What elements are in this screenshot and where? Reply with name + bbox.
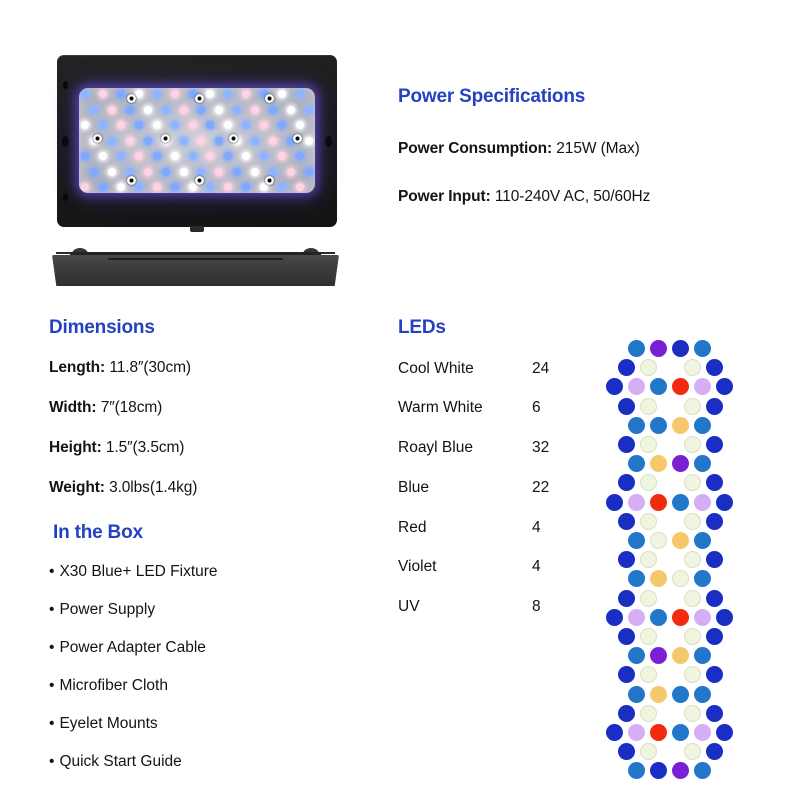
led-row-label-red: Red — [398, 519, 426, 537]
lens-led-dot — [251, 168, 259, 176]
led-dot — [672, 647, 689, 664]
lens-led-dot — [242, 121, 250, 129]
led-dot — [628, 609, 645, 626]
lens-screw-point — [265, 94, 274, 103]
led-dot — [628, 647, 645, 664]
led-dot — [628, 686, 645, 703]
bullet-icon: • — [49, 563, 54, 580]
lens-led-dot — [144, 137, 152, 145]
led-dot — [628, 570, 645, 587]
led-dot — [606, 724, 623, 741]
lens-led-dot — [180, 106, 188, 114]
led-dot — [716, 724, 733, 741]
led-dot — [672, 378, 689, 395]
led-dot — [684, 513, 701, 530]
width-value: 7″(18cm) — [101, 399, 163, 416]
lens-led-dot — [251, 137, 259, 145]
bullet-icon: • — [49, 753, 54, 770]
lens-led-dot — [305, 106, 313, 114]
led-dot — [672, 340, 689, 357]
height-label: Height: — [49, 439, 102, 456]
lens-led-dot — [153, 121, 161, 129]
led-dot — [672, 455, 689, 472]
power-consumption-value: 215W (Max) — [556, 140, 639, 157]
led-dot — [650, 686, 667, 703]
led-dot — [716, 378, 733, 395]
lens-led-dot — [206, 121, 214, 129]
lens-led-dot — [162, 106, 170, 114]
lens-screw-point — [93, 134, 102, 143]
lens-led-dot — [126, 106, 134, 114]
led-dot — [694, 686, 711, 703]
led-dot — [640, 705, 657, 722]
led-dot — [672, 570, 689, 587]
lens-led-dot — [242, 183, 250, 191]
led-layout-diagram — [590, 340, 750, 760]
lens-led-dot — [117, 183, 125, 191]
led-dot — [640, 513, 657, 530]
led-dot — [706, 743, 723, 760]
lens-led-dot — [189, 121, 197, 129]
box-item-label: Eyelet Mounts — [59, 715, 157, 732]
led-dot — [606, 378, 623, 395]
led-dot — [640, 666, 657, 683]
dimensions-heading: Dimensions — [49, 317, 155, 339]
led-dot — [606, 609, 623, 626]
led-dot — [650, 378, 667, 395]
leds-heading: LEDs — [398, 317, 446, 339]
led-row-count-red: 4 — [532, 519, 541, 537]
lens-led-dot — [296, 152, 304, 160]
led-row-label-blue: Blue — [398, 479, 429, 497]
led-dot — [684, 743, 701, 760]
led-dot — [640, 359, 657, 376]
led-dot — [684, 590, 701, 607]
led-row-count-blue: 22 — [532, 479, 549, 497]
led-dot — [706, 513, 723, 530]
box-item-4: •Eyelet Mounts — [49, 715, 158, 733]
dimension-row-width: Width: 7″(18cm) — [49, 399, 162, 417]
lens-led-dot — [260, 152, 268, 160]
led-dot — [618, 743, 635, 760]
lens-led-dot — [305, 168, 313, 176]
led-dot — [640, 436, 657, 453]
mount-hole-bottom-left — [63, 193, 68, 201]
lens-screw-point — [127, 94, 136, 103]
lens-led-dot — [206, 183, 214, 191]
lens-screw-point — [195, 94, 204, 103]
bullet-icon: • — [49, 639, 54, 656]
power-consumption-label: Power Consumption: — [398, 140, 552, 157]
box-item-2: •Power Adapter Cable — [49, 639, 206, 657]
led-dot — [650, 532, 667, 549]
box-item-1: •Power Supply — [49, 601, 155, 619]
lens-led-dot — [135, 121, 143, 129]
lens-led-dot — [153, 183, 161, 191]
led-dot — [618, 628, 635, 645]
lens-led-dot — [206, 152, 214, 160]
lens-led-dot — [206, 90, 214, 98]
in-the-box-heading: In the Box — [53, 522, 143, 544]
led-dot — [694, 417, 711, 434]
lens-led-dot — [108, 137, 116, 145]
lens-led-dot — [296, 121, 304, 129]
dimension-row-length: Length: 11.8″(30cm) — [49, 359, 191, 377]
led-dot — [628, 532, 645, 549]
led-dot — [684, 359, 701, 376]
lens-screw-point — [195, 176, 204, 185]
box-item-0: •X30 Blue+ LED Fixture — [49, 563, 218, 581]
lens-led-dot — [251, 106, 259, 114]
lens-screw-point — [127, 176, 136, 185]
lens-led-dot — [144, 106, 152, 114]
lens-led-dot — [215, 106, 223, 114]
led-row-count-warm-white: 6 — [532, 399, 541, 417]
led-dot — [672, 494, 689, 511]
lens-led-dot — [135, 183, 143, 191]
led-dot — [628, 455, 645, 472]
lens-led-dot — [305, 137, 313, 145]
led-dot — [706, 551, 723, 568]
lens-led-dot — [180, 137, 188, 145]
led-dot — [640, 398, 657, 415]
lens-led-dot — [197, 137, 205, 145]
lens-led-dot — [90, 106, 98, 114]
led-dot — [672, 686, 689, 703]
led-dot — [684, 436, 701, 453]
lens-led-dot — [171, 90, 179, 98]
led-dot — [706, 705, 723, 722]
bullet-icon: • — [49, 677, 54, 694]
width-label: Width: — [49, 399, 96, 416]
lens-led-dot — [108, 106, 116, 114]
led-dot — [706, 590, 723, 607]
led-dot — [684, 398, 701, 415]
lens-led-dot — [99, 90, 107, 98]
led-dot — [694, 647, 711, 664]
mount-hole-top-left — [63, 81, 68, 89]
lens-led-dot — [81, 121, 89, 129]
led-dot — [628, 724, 645, 741]
led-dot — [650, 417, 667, 434]
length-value: 11.8″(30cm) — [109, 359, 191, 376]
led-row-label-uv: UV — [398, 598, 420, 616]
power-plug — [190, 226, 204, 232]
led-dot — [618, 398, 635, 415]
led-row-count-violet: 4 — [532, 558, 541, 576]
box-item-3: •Microfiber Cloth — [49, 677, 168, 695]
led-dot — [694, 340, 711, 357]
lens-led-dot — [296, 90, 304, 98]
box-item-label: Quick Start Guide — [59, 753, 181, 770]
lens-screw-point — [229, 134, 238, 143]
led-dot — [628, 340, 645, 357]
led-dot — [706, 666, 723, 683]
led-dot — [706, 359, 723, 376]
lens-led-dot — [224, 121, 232, 129]
lens-screw-point — [293, 134, 302, 143]
lens-led-dot — [171, 183, 179, 191]
led-dot — [672, 724, 689, 741]
led-dot — [694, 455, 711, 472]
led-dot — [650, 724, 667, 741]
lens-led-dot — [233, 168, 241, 176]
product-photo-top-view — [57, 55, 337, 227]
lens-led-dot — [242, 152, 250, 160]
lens-led-dot — [287, 168, 295, 176]
led-row-label-cool-white: Cool White — [398, 360, 474, 378]
lens-led-dot — [287, 106, 295, 114]
led-dot — [672, 532, 689, 549]
lens-led-dot — [153, 152, 161, 160]
lens-led-dot — [189, 183, 197, 191]
led-dot — [706, 398, 723, 415]
led-dot — [672, 417, 689, 434]
led-dot — [706, 628, 723, 645]
led-dot — [672, 609, 689, 626]
lens-led-dot — [296, 183, 304, 191]
lens-led-dot — [117, 152, 125, 160]
dimension-row-weight: Weight: 3.0lbs(1.4kg) — [49, 479, 197, 497]
led-dot — [684, 474, 701, 491]
lens-led-dot — [215, 168, 223, 176]
lens-led-dot — [197, 106, 205, 114]
lens-screw-point — [265, 176, 274, 185]
led-dot — [694, 532, 711, 549]
lens-led-dot — [117, 121, 125, 129]
weight-label: Weight: — [49, 479, 105, 496]
lens-led-dot — [260, 121, 268, 129]
lens-led-dot — [171, 121, 179, 129]
led-dot — [650, 340, 667, 357]
lens-led-dot — [117, 90, 125, 98]
lens-led-dot — [135, 152, 143, 160]
lens-led-dot — [99, 152, 107, 160]
spec-sheet-page: Power Specifications Power Consumption: … — [0, 0, 800, 800]
led-dot — [640, 743, 657, 760]
lens-led-dot — [171, 152, 179, 160]
led-row-count-uv: 8 — [532, 598, 541, 616]
side-vent-slit — [108, 258, 283, 260]
bullet-icon: • — [49, 715, 54, 732]
lens-led-dot — [189, 152, 197, 160]
lens-led-dot — [162, 168, 170, 176]
led-dot — [640, 551, 657, 568]
lens-led-dot — [144, 168, 152, 176]
led-dot — [694, 378, 711, 395]
led-dot — [694, 609, 711, 626]
lens-led-dot — [108, 168, 116, 176]
lens-led-dot — [269, 106, 277, 114]
mount-ear-left — [62, 136, 69, 147]
box-item-label: Power Adapter Cable — [59, 639, 205, 656]
led-dot — [606, 494, 623, 511]
box-item-5: •Quick Start Guide — [49, 753, 182, 771]
led-row-count-cool-white: 24 — [532, 360, 549, 378]
power-consumption-row: Power Consumption: 215W (Max) — [398, 140, 640, 158]
height-value: 1.5″(3.5cm) — [106, 439, 184, 456]
led-dot — [618, 590, 635, 607]
lens-led-dot — [126, 168, 134, 176]
power-specifications-heading: Power Specifications — [398, 86, 585, 108]
lens-led-dot — [224, 90, 232, 98]
led-dot — [640, 590, 657, 607]
led-row-label-warm-white: Warm White — [398, 399, 483, 417]
lens-led-dot — [269, 168, 277, 176]
led-dot — [618, 436, 635, 453]
lens-led-dot — [242, 90, 250, 98]
power-input-label: Power Input: — [398, 188, 491, 205]
led-dot — [706, 474, 723, 491]
lens-led-dot — [99, 183, 107, 191]
led-dot — [650, 647, 667, 664]
mount-ear-right — [325, 136, 332, 147]
lens-led-dot — [215, 137, 223, 145]
led-dot — [628, 494, 645, 511]
lens-led-dot — [99, 121, 107, 129]
lens-led-dot — [81, 90, 89, 98]
led-dot — [628, 378, 645, 395]
led-dot — [706, 436, 723, 453]
power-input-value: 110-240V AC, 50/60Hz — [495, 188, 650, 205]
lens-led-dot — [278, 183, 286, 191]
product-photo-side-view — [48, 243, 343, 288]
led-dot — [684, 551, 701, 568]
led-dot — [628, 762, 645, 779]
led-dot — [650, 494, 667, 511]
led-dot — [640, 628, 657, 645]
lens-led-dot — [224, 183, 232, 191]
led-row-label-royal-blue: Roayl Blue — [398, 439, 473, 457]
led-dot — [640, 474, 657, 491]
led-dot — [618, 513, 635, 530]
led-dot — [618, 705, 635, 722]
lens-led-dot — [278, 90, 286, 98]
led-dot — [684, 628, 701, 645]
power-input-row: Power Input: 110-240V AC, 50/60Hz — [398, 188, 650, 206]
lens-led-dot — [269, 137, 277, 145]
lens-led-dot — [233, 106, 241, 114]
led-dot — [618, 474, 635, 491]
led-dot — [716, 609, 733, 626]
lens-led-dot — [278, 121, 286, 129]
lens-led-dot — [126, 137, 134, 145]
led-dot — [650, 455, 667, 472]
led-dot — [694, 570, 711, 587]
lens-led-dot — [180, 168, 188, 176]
led-dot — [684, 705, 701, 722]
led-dot — [672, 762, 689, 779]
box-item-label: X30 Blue+ LED Fixture — [59, 563, 217, 580]
length-label: Length: — [49, 359, 105, 376]
lens-led-dot — [278, 152, 286, 160]
led-dot — [618, 666, 635, 683]
led-dot — [684, 666, 701, 683]
dimension-row-height: Height: 1.5″(3.5cm) — [49, 439, 184, 457]
led-dot — [650, 570, 667, 587]
led-lens-panel — [79, 88, 315, 193]
led-dot — [716, 494, 733, 511]
led-dot — [694, 762, 711, 779]
lens-led-dot — [153, 90, 161, 98]
lens-led-dot — [197, 168, 205, 176]
lens-led-dot — [81, 183, 89, 191]
lens-led-dot — [224, 152, 232, 160]
led-dot — [628, 417, 645, 434]
bullet-icon: • — [49, 601, 54, 618]
led-dot — [694, 724, 711, 741]
led-row-label-violet: Violet — [398, 558, 437, 576]
lens-led-dot — [90, 168, 98, 176]
led-dot — [618, 551, 635, 568]
lens-screw-point — [161, 134, 170, 143]
led-dot — [650, 609, 667, 626]
led-row-count-royal-blue: 32 — [532, 439, 549, 457]
box-item-label: Microfiber Cloth — [59, 677, 168, 694]
lens-led-dot — [81, 152, 89, 160]
led-dot — [650, 762, 667, 779]
weight-value: 3.0lbs(1.4kg) — [109, 479, 197, 496]
box-item-label: Power Supply — [59, 601, 155, 618]
led-dot — [618, 359, 635, 376]
led-dot — [694, 494, 711, 511]
